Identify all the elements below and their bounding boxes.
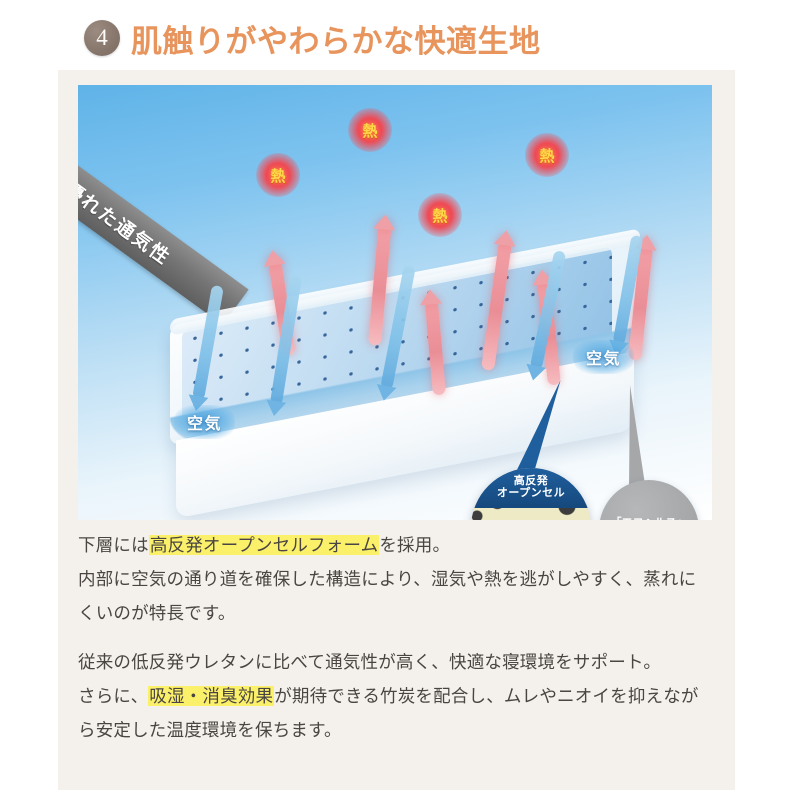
paragraph-1-line-2: 内部に空気の通り道を確保した構造により、湿気や熱を逃がしやすく、蒸れに [78, 562, 718, 596]
p1-highlight: 高反発オープンセルフォーム [149, 535, 380, 555]
paragraph-2-line-3: ら安定した温度環境を保ちます。 [78, 713, 718, 747]
ribbon-label: 優れた通気性 [78, 174, 177, 270]
p2-pre: さらに、 [78, 686, 148, 706]
product-illustration: 優れた通気性 [78, 85, 712, 520]
heat-badge-1: 熱 [256, 153, 300, 197]
callout-open-cell-header: 高反発 オープンセル [471, 468, 591, 508]
p1-post: を採用。 [379, 535, 450, 555]
description-paragraph-1: 下層には高反発オープンセルフォームを採用。 内部に空気の通り道を確保した構造によ… [78, 528, 718, 630]
page-title: 肌触りがやわらかな快適生地 [131, 16, 541, 61]
paragraph-1-line-3: くいのが特長です。 [78, 596, 718, 630]
heat-label: 熱 [539, 145, 554, 166]
heat-label: 熱 [432, 205, 447, 226]
paragraph-2-line-2: さらに、吸湿・消臭効果が期待できる竹炭を配合し、ムレやニオイを抑えなが [78, 679, 718, 713]
paragraph-1-line-1: 下層には高反発オープンセルフォームを採用。 [78, 528, 718, 562]
callout-open-cell: 高反発 オープンセル [471, 468, 591, 520]
callout-eco-line1: 「エコヘルス」 [611, 517, 688, 520]
callout-open-cell-line2: オープンセル [497, 488, 565, 500]
section-header: 4 肌触りがやわらかな快適生地 [84, 14, 541, 62]
section-number-badge: 4 [84, 20, 120, 56]
p2-post: が期待できる竹炭を配合し、ムレやニオイを抑えなが [274, 686, 698, 706]
heat-badge-4: 熱 [525, 133, 569, 177]
description-paragraph-2: 従来の低反発ウレタンに比べて通気性が高く、快適な寝環境をサポート。 さらに、吸湿… [78, 645, 718, 747]
infographic-page: 4 肌触りがやわらかな快適生地 優れた通気性 [0, 0, 790, 790]
air-label-left: 空気 [174, 405, 235, 439]
p1-pre: 下層には [78, 535, 149, 555]
heat-badge-3: 熱 [418, 193, 462, 237]
air-label-right: 空気 [573, 340, 634, 374]
heat-badge-2: 熱 [348, 108, 392, 152]
heat-label: 熱 [362, 120, 377, 141]
paragraph-2-line-1: 従来の低反発ウレタンに比べて通気性が高く、快適な寝環境をサポート。 [78, 645, 718, 679]
heat-label: 熱 [270, 165, 285, 186]
p2-highlight: 吸湿・消臭効果 [148, 686, 274, 706]
